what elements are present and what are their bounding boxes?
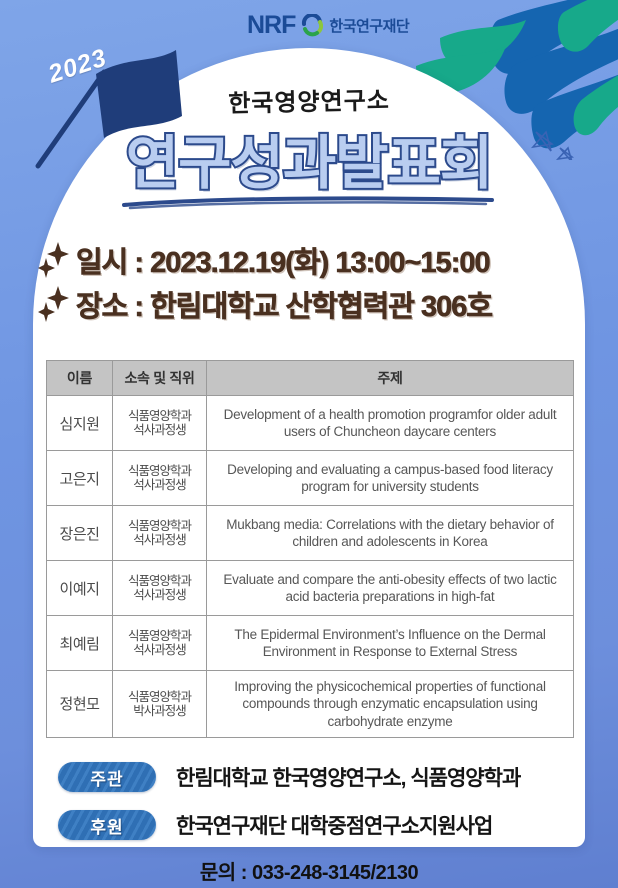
sponsor-section: 주관 한림대학교 한국영양연구소, 식품영양학과 후원 한국연구재단 대학중점연… [58, 757, 563, 853]
title-underline-stroke [120, 196, 500, 210]
nrf-logo-letters: NRF [247, 11, 295, 40]
event-venue-text: 장소 : 한림대학교 산학협력관 306호 [76, 283, 492, 325]
cell-presenter-name: 정현모 [47, 671, 113, 738]
cell-affiliation: 식품영양학과 석사과정생 [113, 396, 207, 451]
affiliation-line-1: 식품영양학과 [114, 629, 205, 643]
cell-topic: Mukbang media: Correlations with the die… [207, 506, 574, 561]
affiliation-line-2: 석사과정생 [114, 588, 205, 602]
sponsor-row-support: 후원 한국연구재단 대학중점연구소지원사업 [58, 805, 563, 845]
cell-affiliation: 식품영양학과 박사과정생 [113, 671, 207, 738]
cell-affiliation: 식품영양학과 석사과정생 [113, 616, 207, 671]
cell-presenter-name: 이예지 [47, 561, 113, 616]
event-info-block: 일시 : 2023.12.19(화) 13:00~15:00 장소 : 한림대학… [38, 238, 583, 326]
cell-topic: The Epidermal Environment’s Influence on… [207, 616, 574, 671]
affiliation-line-2: 석사과정생 [114, 423, 205, 437]
table-row: 정현모 식품영양학과 박사과정생 Improving the physicoch… [47, 671, 574, 738]
cell-presenter-name: 장은진 [47, 506, 113, 561]
affiliation-line-2: 석사과정생 [114, 478, 205, 492]
column-header-name: 이름 [47, 361, 113, 396]
column-header-affiliation: 소속 및 직위 [113, 361, 207, 396]
column-header-topic: 주제 [207, 361, 574, 396]
table-row: 최예림 식품영양학과 석사과정생 The Epidermal Environme… [47, 616, 574, 671]
affiliation-line-2: 석사과정생 [114, 643, 205, 657]
program-table: 이름 소속 및 직위 주제 심지원 식품영양학과 석사과정생 Developme… [46, 360, 574, 738]
sparkle-icon [38, 240, 72, 280]
affiliation-line-1: 식품영양학과 [114, 409, 205, 423]
affiliation-line-1: 식품영양학과 [114, 464, 205, 478]
cell-affiliation: 식품영양학과 석사과정생 [113, 506, 207, 561]
table-row: 고은지 식품영양학과 석사과정생 Developing and evaluati… [47, 451, 574, 506]
affiliation-line-1: 식품영양학과 [114, 690, 205, 704]
cell-topic: Improving the physicochemical properties… [207, 671, 574, 738]
badge-host: 주관 [58, 762, 156, 792]
sparkle-icon [38, 284, 72, 324]
nrf-logo: NRF 한국연구재단 [247, 11, 409, 40]
cell-presenter-name: 고은지 [47, 451, 113, 506]
program-table-head: 이름 소속 및 직위 주제 [47, 361, 574, 396]
event-date-row: 일시 : 2023.12.19(화) 13:00~15:00 [38, 238, 583, 282]
cell-affiliation: 식품영양학과 석사과정생 [113, 561, 207, 616]
cell-topic: Developing and evaluating a campus-based… [207, 451, 574, 506]
nrf-logo-korean-name: 한국연구재단 [329, 15, 409, 36]
sponsor-host-text: 한림대학교 한국영양연구소, 식품영양학과 [176, 762, 520, 792]
cell-topic: Evaluate and compare the anti-obesity ef… [207, 561, 574, 616]
page-title: 연구성과발표회 [0, 116, 618, 200]
table-row: 심지원 식품영양학과 석사과정생 Development of a health… [47, 396, 574, 451]
program-table-body: 심지원 식품영양학과 석사과정생 Development of a health… [47, 396, 574, 738]
affiliation-line-2: 박사과정생 [114, 704, 205, 718]
event-date-text: 일시 : 2023.12.19(화) 13:00~15:00 [76, 239, 490, 281]
event-venue-row: 장소 : 한림대학교 산학협력관 306호 [38, 282, 583, 326]
badge-support: 후원 [58, 810, 156, 840]
table-row: 이예지 식품영양학과 석사과정생 Evaluate and compare th… [47, 561, 574, 616]
table-header-row: 이름 소속 및 직위 주제 [47, 361, 574, 396]
affiliation-line-2: 석사과정생 [114, 533, 205, 547]
cell-topic: Development of a health promotion progra… [207, 396, 574, 451]
contact-footer: 문의 : 033-248-3145/2130 [0, 856, 618, 885]
cell-affiliation: 식품영양학과 석사과정생 [113, 451, 207, 506]
table-row: 장은진 식품영양학과 석사과정생 Mukbang media: Correlat… [47, 506, 574, 561]
cell-presenter-name: 최예림 [47, 616, 113, 671]
sponsor-support-text: 한국연구재단 대학중점연구소지원사업 [176, 810, 492, 840]
nrf-logo-mark-icon [301, 14, 323, 38]
affiliation-line-1: 식품영양학과 [114, 519, 205, 533]
affiliation-line-1: 식품영양학과 [114, 574, 205, 588]
sponsor-row-host: 주관 한림대학교 한국영양연구소, 식품영양학과 [58, 757, 563, 797]
cell-presenter-name: 심지원 [47, 396, 113, 451]
poster-canvas: NRF 한국연구재단 2023 한국영양연구소 연구성과발표회 [0, 0, 618, 888]
